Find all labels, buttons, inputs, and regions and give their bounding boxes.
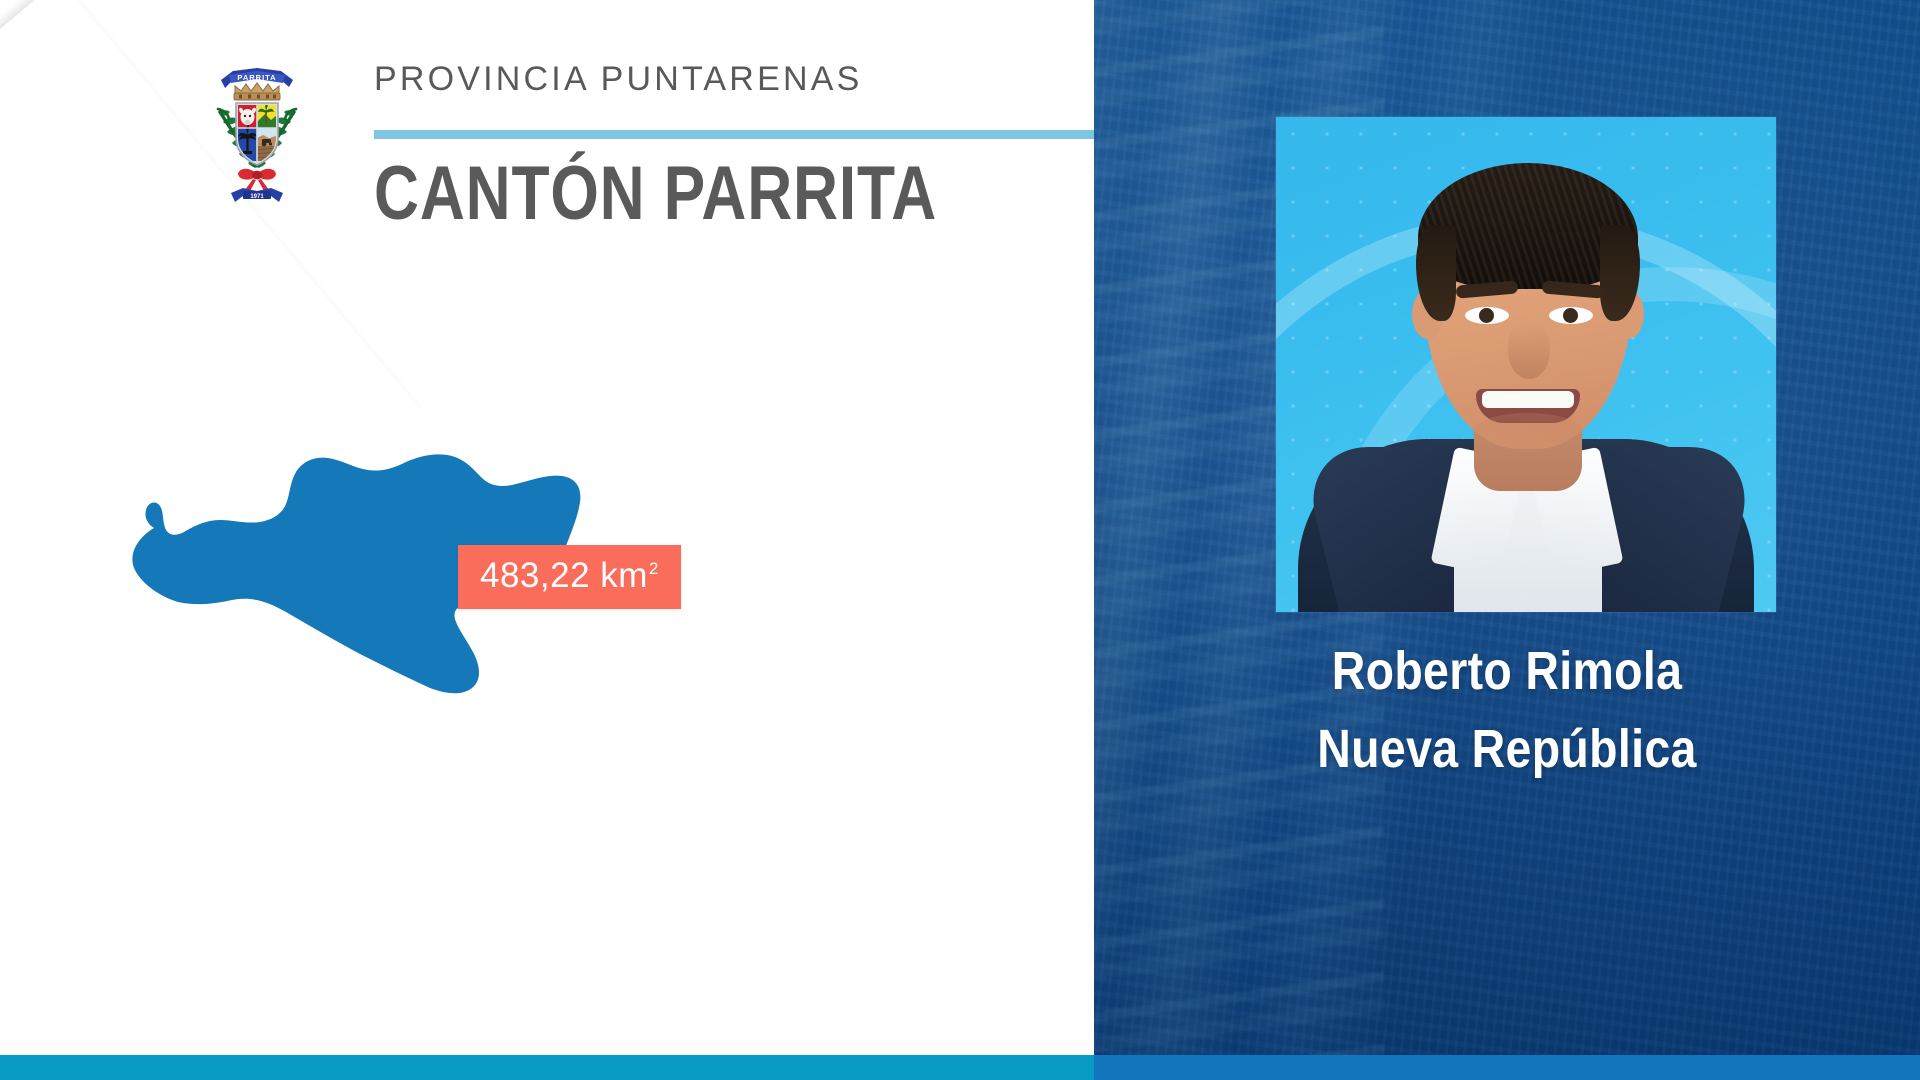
infographic-slide: Roberto Rimola Nueva República [0,0,1920,1080]
candidate-name: Roberto Rimola [1152,640,1862,704]
crest-ribbon-label: PARRITA [237,73,276,82]
nose [1508,323,1550,379]
page-title: CANTÓN PARRITA [374,150,937,237]
province-label: PROVINCIA PUNTARENAS [374,60,1074,99]
candidate-portrait [1276,117,1776,612]
header-text-block: PROVINCIA PUNTARENAS [374,60,1074,99]
candidate-info: Roberto Rimola Nueva República [1094,640,1920,781]
header-divider-rule [374,130,1094,139]
area-badge: 483,22 km2 [458,545,681,609]
footer-bar-right [1094,1055,1920,1080]
coat-of-arms-icon: PARRITA [205,62,309,212]
teeth [1482,391,1574,408]
area-value: 483,22 km [480,556,648,595]
pupil-left [1479,308,1494,323]
footer-bar-left [0,1055,1094,1080]
pupil-right [1563,308,1578,323]
chin-shading [1472,413,1584,453]
area-unit-exponent: 2 [649,559,659,578]
candidate-party: Nueva República [1152,718,1862,782]
person-illustration [1276,117,1776,612]
crest-base-label: 1971 [250,194,264,200]
